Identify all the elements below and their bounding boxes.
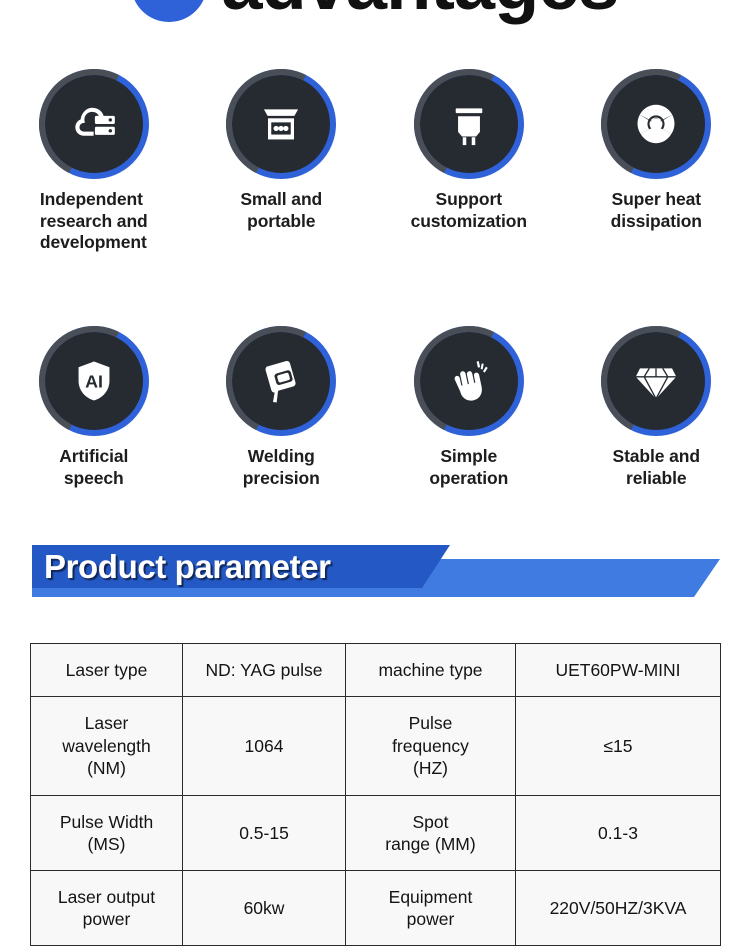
feature-label: Super heat dissipation (611, 189, 702, 232)
svg-text:AI: AI (85, 372, 103, 392)
diamond-icon (629, 354, 683, 408)
feature-label: Independent research and development (40, 189, 148, 254)
table-row: Laser wavelength (NM) 1064 Pulse frequen… (31, 697, 721, 796)
feature-icon-badge: AI (45, 332, 143, 430)
table-cell: Laser wavelength (NM) (31, 697, 183, 796)
table-cell: machine type (346, 644, 516, 697)
table-cell: 60kw (183, 871, 346, 946)
portable-box-icon (255, 98, 307, 150)
table-cell: ND: YAG pulse (183, 644, 346, 697)
feature-independent-research[interactable]: Independent research and development (0, 75, 188, 254)
feature-super-heat-dissipation[interactable]: Super heat dissipation (563, 75, 750, 254)
table-cell: 0.5-15 (183, 796, 346, 871)
table-cell: Laser output power (31, 871, 183, 946)
feature-icon-badge (607, 332, 705, 430)
feature-row-1: Independent research and development Sma… (0, 75, 750, 254)
table-cell: 1064 (183, 697, 346, 796)
page-title: advantages (221, 0, 618, 21)
feature-welding-precision[interactable]: Welding precision (188, 332, 376, 489)
clapping-hands-icon (442, 354, 496, 408)
welding-mask-icon (254, 354, 308, 408)
feature-label: Welding precision (243, 446, 320, 489)
feature-artificial-speech[interactable]: AI Artificial speech (0, 332, 188, 489)
table-cell: UET60PW-MINI (516, 644, 721, 697)
feature-row-2: AI Artificial speech Welding precision (0, 332, 750, 489)
blue-circle-badge-icon (131, 0, 207, 22)
feature-stable-reliable[interactable]: Stable and reliable (563, 332, 750, 489)
power-plug-icon (444, 99, 494, 149)
feature-icon-badge (45, 75, 143, 173)
table-cell: Pulse Width (MS) (31, 796, 183, 871)
table-cell: Laser type (31, 644, 183, 697)
feature-label: Simple operation (429, 446, 508, 489)
hero-title-block: advantages (0, 0, 750, 30)
feature-icon-badge (232, 332, 330, 430)
feature-label: Stable and reliable (613, 446, 701, 489)
feature-support-customization[interactable]: Support customization (375, 75, 563, 254)
table-cell: ≤15 (516, 697, 721, 796)
cloud-server-icon (65, 95, 123, 153)
section-banner: Product parameter (0, 545, 750, 597)
table-row: Pulse Width (MS) 0.5-15 Spot range (MM) … (31, 796, 721, 871)
feature-icon-badge (420, 75, 518, 173)
feature-icon-badge (607, 75, 705, 173)
table-cell: Spot range (MM) (346, 796, 516, 871)
product-parameter-table: Laser type ND: YAG pulse machine type UE… (30, 643, 721, 946)
table-cell: Equipment power (346, 871, 516, 946)
feature-label: Small and portable (240, 189, 322, 232)
cooling-fan-icon (628, 96, 684, 152)
table-row: Laser type ND: YAG pulse machine type UE… (31, 644, 721, 697)
feature-icon-badge (420, 332, 518, 430)
feature-label: Support customization (411, 189, 527, 232)
feature-icon-badge (232, 75, 330, 173)
feature-label: Artificial speech (59, 446, 128, 489)
feature-simple-operation[interactable]: Simple operation (375, 332, 563, 489)
table-cell: 0.1-3 (516, 796, 721, 871)
section-title: Product parameter (44, 546, 331, 588)
feature-small-portable[interactable]: Small and portable (188, 75, 376, 254)
ai-shield-icon: AI (68, 355, 120, 407)
table-row: Laser output power 60kw Equipment power … (31, 871, 721, 946)
table-cell: 220V/50HZ/3KVA (516, 871, 721, 946)
table-cell: Pulse frequency (HZ) (346, 697, 516, 796)
